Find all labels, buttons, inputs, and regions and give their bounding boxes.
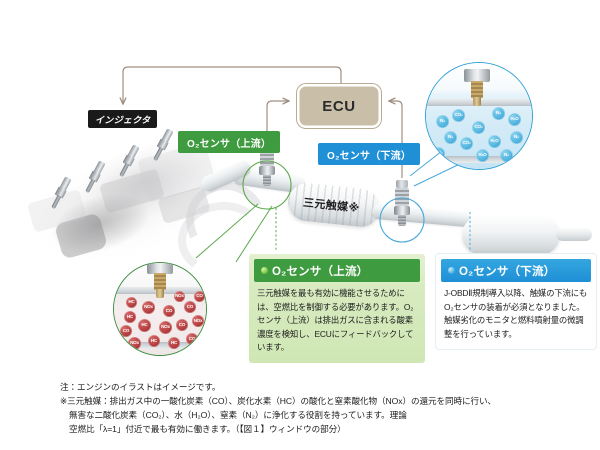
diagram-canvas: 三元触媒※: [0, 0, 600, 450]
magnifier-before-catalyst: NOx CO HC CO NOx HC CO NOx CO HC NOx HC …: [113, 262, 207, 356]
callout-upstream-header: O₂センサ（上流）: [254, 259, 420, 282]
callout-downstream: O₂センサ（下流） J-OBDⅡ規制導入以降、触媒の下流にもO₂センサの装着が必…: [436, 254, 596, 349]
molecule: HC: [126, 297, 137, 308]
ecu-label: ECU: [322, 98, 355, 115]
molecule: CO: [186, 333, 198, 345]
muffler: [462, 215, 560, 255]
molecule: CO: [176, 319, 188, 331]
footnote-line-3: 無害な二酸化炭素（CO₂）、水（H₂O）、窒素（N₂）に浄化する役割を持っていま…: [60, 409, 560, 423]
molecule: CO₂: [460, 137, 473, 150]
callout-downstream-title: O₂センサ（下流）: [459, 263, 555, 279]
molecule: CO: [194, 291, 205, 302]
exhaust-pipe-downstream: [372, 204, 471, 227]
footnotes: 注：エンジンのイラストはイメージです。 ※三元触媒：排出ガス中の一酸化炭素（CO…: [60, 381, 560, 437]
molecule: H₂O: [476, 149, 489, 162]
molecule: HC: [124, 311, 136, 323]
o2-downstream-badge: O₂センサ（下流）: [318, 143, 420, 165]
molecule: N₂: [436, 115, 449, 128]
ecu-box: ECU: [297, 84, 381, 128]
callout-downstream-body: J-OBDⅡ規制導入以降、触媒の下流にもO₂センサの装着が必須となりました。触媒…: [441, 282, 591, 344]
molecule: N₂: [492, 107, 505, 120]
bullet-icon: [448, 267, 455, 274]
footnote-line-4: 空燃比「λ=1」付近で最も有効に働きます。（【図１】ウィンドウの部分）: [60, 423, 560, 437]
callout-downstream-header: O₂センサ（下流）: [441, 259, 591, 282]
o2-upstream-badge: O₂センサ（上流）: [178, 131, 280, 153]
molecule: NOx: [174, 291, 185, 302]
bullet-icon: [261, 267, 268, 274]
molecule: CO₂: [452, 109, 465, 122]
footnote-line-1: 注：エンジンのイラストはイメージです。: [60, 381, 560, 395]
molecule: CO₂: [432, 147, 445, 160]
molecule: NOx: [142, 301, 155, 314]
callout-upstream: O₂センサ（上流） 三元触媒を最も有効に機能させるためには、空燃比を制御する必要…: [249, 254, 425, 363]
molecule: NOx: [192, 315, 204, 327]
injector-badge: インジェクタ: [88, 110, 157, 128]
o2-sensor-downstream-probe: [394, 180, 410, 226]
callout-upstream-title: O₂センサ（上流）: [272, 263, 368, 279]
molecule: CO₂: [472, 121, 485, 134]
molecule: H₂O: [508, 113, 521, 126]
molecule: HC: [138, 319, 151, 332]
molecule: H₂O: [488, 135, 501, 148]
molecule: NOx: [128, 337, 141, 350]
magnifier-after-catalyst: N₂ CO₂ H₂O N₂ CO₂ N₂ CO₂ H₂O N₂ CO₂ H₂O …: [425, 62, 533, 170]
molecule: NOx: [159, 321, 172, 334]
molecule: CO: [163, 305, 175, 317]
molecule: HC: [168, 337, 180, 349]
molecule: N₂: [500, 149, 513, 162]
molecule: N₂: [510, 131, 523, 144]
molecule: CO: [120, 325, 132, 337]
molecule: N₂: [444, 131, 457, 144]
molecule: HC: [148, 335, 160, 347]
footnote-line-2: ※三元触媒：排出ガス中の一酸化炭素（CO）、炭化水素（HC）の酸化と窒素酸化物（…: [60, 395, 560, 409]
molecule: CO: [184, 301, 196, 313]
callout-upstream-body: 三元触媒を最も有効に機能させるためには、空燃比を制御する必要があります。O₂セン…: [254, 282, 420, 358]
tailpipe: [556, 228, 592, 241]
